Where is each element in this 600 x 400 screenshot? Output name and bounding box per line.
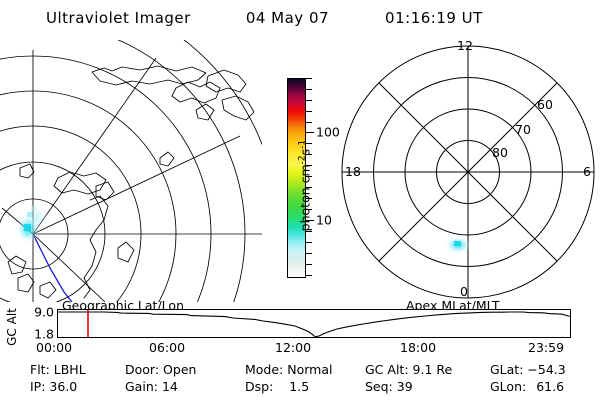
coastline-outlines [8,66,254,298]
colorbar-unit-exp1: -2 [297,155,307,164]
orbit-xtick-4: 23:59 [528,340,564,355]
auroral-emission-patch [16,205,50,243]
status-gain-value: 14 [162,379,178,394]
status-ip: IP: 36.0 [30,379,77,394]
status-row-1: Flt: LBHL Door: Open Mode: Normal GC Alt… [0,362,600,379]
status-door-key: Door: [125,362,159,377]
orbit-xtick-0: 00:00 [36,340,72,355]
status-glat-key: GLat: [490,362,523,377]
orbit-altitude-plot [57,309,571,338]
observation-time: 01:16:19 UT [385,9,483,27]
mlat-label-70: 70 [515,122,531,137]
status-gain-key: Gain: [125,379,158,394]
status-ip-key: IP: [30,379,45,394]
orbit-xtick-2: 12:00 [275,340,311,355]
mlt-label-right: 6 [583,164,591,179]
status-seq-value: 39 [397,379,413,394]
orbit-axis-label: GC Alt [2,304,22,348]
orbit-axis-label-text: GC Alt [5,305,19,349]
status-gc-alt-key: GC Alt: [365,362,409,377]
geographic-projection-svg [0,40,262,302]
status-dsp-key: Dsp: [245,379,273,394]
status-gc-alt-value: 9.1 Re [413,362,453,377]
latitude-grid [0,40,262,302]
status-mode-key: Mode: [245,362,283,377]
observation-date: 04 May 07 [246,9,329,27]
instrument-title: Ultraviolet Imager [46,9,191,27]
status-gain: Gain: 14 [125,379,178,394]
status-door-value: Open [163,362,196,377]
colorbar-unit-mid: s [298,149,313,156]
status-row-2: IP: 36.0 Gain: 14 Dsp: 1.5 Seq: 39 GLon:… [0,379,600,396]
orbit-altitude-group: GC Alt 9.0 1.8 00:00 06:00 12:00 18:00 2… [0,296,600,358]
status-seq: Seq: 39 [365,379,413,394]
status-glon: GLon: 61.6 [490,379,564,394]
status-dsp-value: 1.5 [289,379,309,394]
status-mode-value: Normal [287,362,332,377]
mlat-label-80: 80 [492,145,508,160]
status-ip-value: 36.0 [49,379,77,394]
mlt-label-top: 12 [457,38,473,53]
colorbar-tick-label-100: 100 [316,125,340,140]
uvi-display: Ultraviolet Imager 04 May 07 01:16:19 UT [0,0,600,400]
orbit-xtick-1: 06:00 [149,340,185,355]
colorbar-unit-exp2: -1 [297,140,307,149]
mlt-spokes [342,46,594,298]
status-flt-value: LBHL [54,362,86,377]
status-footer: Flt: LBHL Door: Open Mode: Normal GC Alt… [0,362,600,400]
status-mode: Mode: Normal [245,362,333,377]
status-flt-key: Flt: [30,362,50,377]
mlt-label-left: 18 [345,164,361,179]
status-dsp: Dsp: 1.5 [245,379,309,394]
colorbar-unit-main: photon cm [298,164,313,231]
orbit-xtick-3: 18:00 [400,340,436,355]
status-door: Door: Open [125,362,196,377]
mlat-label-60: 60 [537,97,553,112]
geographic-projection-panel: Geographic Lat/Lon [0,40,262,302]
apex-mlat-mlt-panel: 12 18 6 0 60 70 80 Apex MLat/MLT [340,40,600,302]
status-gc-alt: GC Alt: 9.1 Re [365,362,452,377]
apex-dial-svg [340,40,600,302]
colorbar-group: 100 10 photon cm-2s-1 [262,50,342,295]
status-glon-key: GLon: [490,379,526,394]
status-flt: Flt: LBHL [30,362,86,377]
status-glat: GLat: −54.3 [490,362,566,377]
apex-emission-patch [445,236,471,254]
status-seq-key: Seq: [365,379,393,394]
status-glon-value: 61.6 [536,379,564,394]
colorbar-tick-label-10: 10 [316,213,332,228]
colorbar-axis-label: photon cm-2s-1 [297,111,312,261]
longitude-grid [2,50,262,302]
status-glat-value: −54.3 [527,362,565,377]
display-header: Ultraviolet Imager 04 May 07 01:16:19 UT [0,6,600,30]
orbit-ytick-top: 9.0 [22,305,54,320]
